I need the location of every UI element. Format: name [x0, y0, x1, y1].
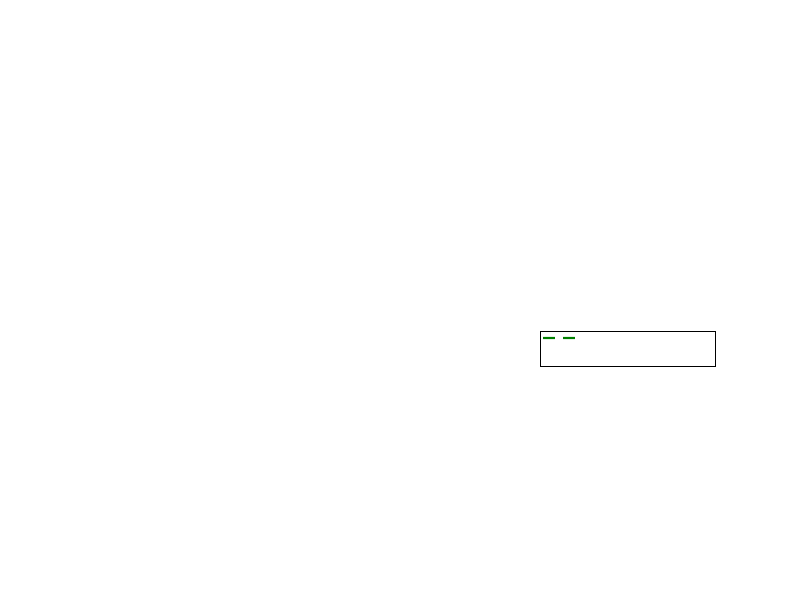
legend-dash-icon — [541, 332, 583, 344]
top-panel-plot — [0, 0, 800, 600]
legend — [540, 331, 716, 367]
figure-canvas — [0, 0, 800, 600]
